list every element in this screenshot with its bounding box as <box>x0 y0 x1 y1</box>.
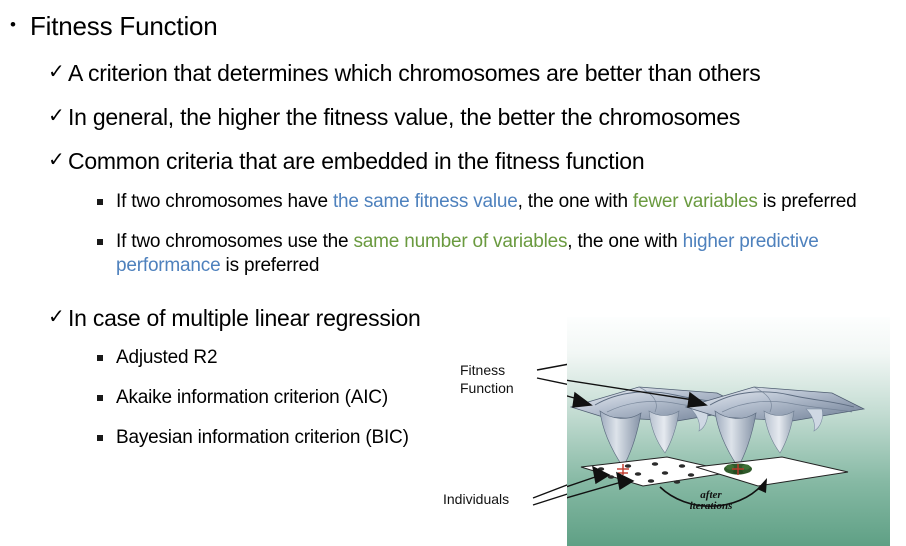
regression-criterion-3: Bayesian information criterion (BIC) <box>97 426 409 450</box>
check-icon: ✓ <box>48 305 68 329</box>
regression-criterion-2: Akaike information criterion (AIC) <box>97 386 388 410</box>
criterion-1-part3: is preferred <box>758 191 857 212</box>
criterion-2-part3: is preferred <box>220 255 319 276</box>
square-bullet-icon <box>97 190 116 214</box>
check-icon: ✓ <box>48 60 68 84</box>
slide-title-bullet: • Fitness Function <box>10 12 218 42</box>
criterion-item-2-label: If two chromosomes use the same number o… <box>116 230 906 278</box>
square-bullet-icon <box>97 346 116 370</box>
after-iterations-line2: iterations <box>690 500 733 512</box>
check-bullet-4-label: In case of multiple linear regression <box>68 305 421 331</box>
check-bullet-3: ✓ Common criteria that are embedded in t… <box>48 148 644 174</box>
regression-criterion-1-label: Adjusted R2 <box>116 346 217 370</box>
check-icon: ✓ <box>48 148 68 172</box>
check-icon: ✓ <box>48 104 68 128</box>
check-bullet-3-label: Common criteria that are embedded in the… <box>68 148 644 174</box>
regression-criterion-2-label: Akaike information criterion (AIC) <box>116 386 388 410</box>
criterion-2-highlight-1: same number of variables <box>353 231 567 252</box>
page-title: Fitness Function <box>30 12 218 42</box>
criterion-item-1-label: If two chromosomes have the same fitness… <box>116 190 856 214</box>
check-bullet-2-label: In general, the higher the fitness value… <box>68 104 740 130</box>
bullet-dot-icon: • <box>10 12 30 38</box>
criterion-2-part2: , the one with <box>567 231 682 252</box>
square-bullet-icon <box>97 386 116 410</box>
check-bullet-1-label: A criterion that determines which chromo… <box>68 60 761 86</box>
fitness-landscape-figure: after iterations <box>567 317 890 546</box>
criterion-1-part2: , the one with <box>518 191 633 212</box>
criterion-1-highlight-2: fewer variables <box>633 191 758 212</box>
criterion-1-part1: If two chromosomes have <box>116 191 333 212</box>
square-bullet-icon <box>97 230 116 254</box>
regression-criterion-1: Adjusted R2 <box>97 346 217 370</box>
check-bullet-2: ✓ In general, the higher the fitness val… <box>48 104 740 130</box>
regression-criterion-3-label: Bayesian information criterion (BIC) <box>116 426 409 450</box>
criterion-item-2: If two chromosomes use the same number o… <box>97 230 906 278</box>
callout-leader-lines <box>440 330 580 530</box>
check-bullet-1: ✓ A criterion that determines which chro… <box>48 60 761 86</box>
criterion-item-1: If two chromosomes have the same fitness… <box>97 190 856 214</box>
square-bullet-icon <box>97 426 116 450</box>
criterion-1-highlight-1: the same fitness value <box>333 191 518 212</box>
slide-canvas: • Fitness Function ✓ A criterion that de… <box>0 0 906 546</box>
check-bullet-4: ✓ In case of multiple linear regression <box>48 305 421 331</box>
criterion-2-part1: If two chromosomes use the <box>116 231 353 252</box>
